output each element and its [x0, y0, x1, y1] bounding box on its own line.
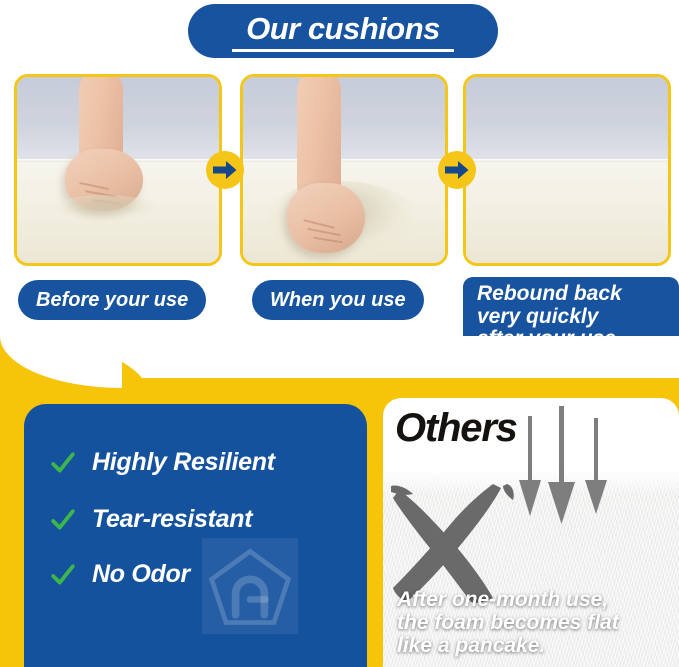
foam-edge-highlight — [466, 159, 668, 162]
others-caption-line-2: the foam becomes flat — [397, 611, 619, 634]
caption-line-2: very quickly — [477, 306, 669, 329]
others-title: Others — [395, 406, 517, 451]
photo-background — [466, 77, 668, 159]
others-caption: After one-month use, the foam becomes fl… — [397, 588, 619, 657]
knuckle-line — [313, 237, 343, 244]
arrow-right-icon — [206, 151, 244, 189]
check-icon — [50, 450, 76, 476]
pentagon-house-logo-icon — [202, 538, 298, 634]
foam-surface — [466, 159, 668, 263]
photo-after-use — [466, 77, 668, 263]
infographic-root: Our cushions — [0, 0, 679, 667]
feature-item-no-odor: No Odor — [50, 560, 190, 589]
caption-when-using: When you use — [252, 280, 424, 320]
forearm-shape — [297, 74, 341, 199]
feature-item-tear-resistant: Tear-resistant — [50, 505, 252, 534]
feature-label: Highly Resilient — [92, 448, 275, 477]
feature-label: Tear-resistant — [92, 505, 252, 534]
arrow-right-icon — [438, 151, 476, 189]
demo-panel-after-use — [463, 74, 671, 266]
demo-panel-before-use — [14, 74, 222, 266]
page-title: Our cushions — [246, 13, 440, 44]
knuckle-line — [307, 228, 341, 236]
check-icon — [50, 562, 76, 588]
photo-background — [243, 77, 445, 159]
foam-contact-shadow — [53, 195, 157, 221]
photo-before-use — [17, 77, 219, 263]
page-title-banner: Our cushions — [188, 4, 498, 58]
title-underline — [232, 49, 454, 52]
check-icon — [50, 507, 76, 533]
caption-before-use: Before your use — [18, 280, 206, 320]
feature-item-highly-resilient: Highly Resilient — [50, 448, 275, 477]
others-caption-line-3: like a pancake. — [397, 634, 619, 657]
fist-shape — [287, 183, 365, 253]
photo-when-using — [243, 77, 445, 263]
others-comparison-card: Others After one-month use, the foam bec… — [383, 398, 679, 667]
knuckle-line — [79, 182, 109, 190]
others-caption-line-1: After one-month use, — [397, 588, 619, 611]
features-panel: Highly Resilient Tear-resistant No Odor — [24, 404, 367, 667]
caption-line-1: Rebound back — [477, 283, 669, 306]
feature-label: No Odor — [92, 560, 190, 589]
foam-edge-highlight — [243, 159, 445, 162]
demo-panel-when-using — [240, 74, 448, 266]
